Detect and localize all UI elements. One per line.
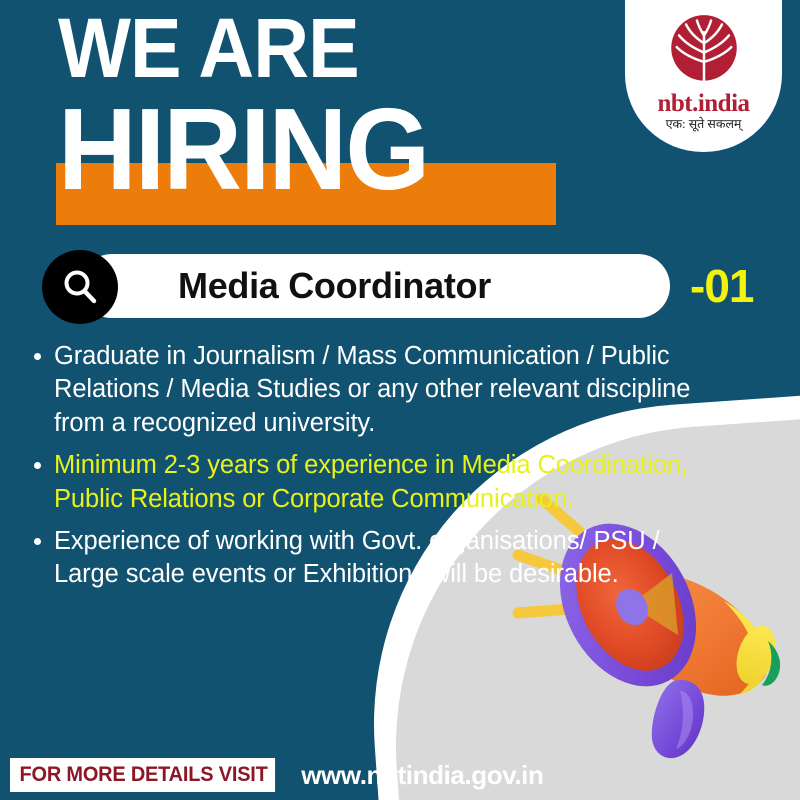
footer-bar: FOR MORE DETAILS VISIT www.nbtindia.gov.… [0, 750, 800, 800]
list-item: Graduate in Journalism / Mass Communicat… [26, 340, 726, 440]
role-title: Media Coordinator [178, 265, 491, 307]
hiring-poster: WE ARE HIRING nbt.india एक: सू [0, 0, 800, 800]
nbt-logo-badge: nbt.india एक: सूते सकलम् [625, 0, 782, 152]
nbt-tagline: एक: सूते सकलम् [666, 118, 742, 132]
list-item: Experience of working with Govt. organis… [26, 525, 726, 592]
nbt-tree-emblem-icon [665, 12, 743, 90]
headline-line-we-are: WE ARE [58, 10, 359, 87]
search-icon[interactable] [42, 250, 118, 324]
nbt-wordmark: nbt.india [657, 91, 749, 116]
role-search-row: Media Coordinator -01 [42, 250, 782, 322]
headline-line-hiring: HIRING [58, 96, 428, 203]
qualifications-list: Graduate in Journalism / Mass Communicat… [26, 340, 726, 601]
role-title-pill: Media Coordinator [80, 254, 670, 318]
headline-block: WE ARE [58, 10, 385, 87]
list-item: Minimum 2-3 years of experience in Media… [26, 449, 726, 516]
footer-website-url[interactable]: www.nbtindia.gov.in [301, 760, 543, 791]
footer-label: FOR MORE DETAILS VISIT [10, 758, 275, 792]
vacancy-count: -01 [690, 254, 753, 318]
